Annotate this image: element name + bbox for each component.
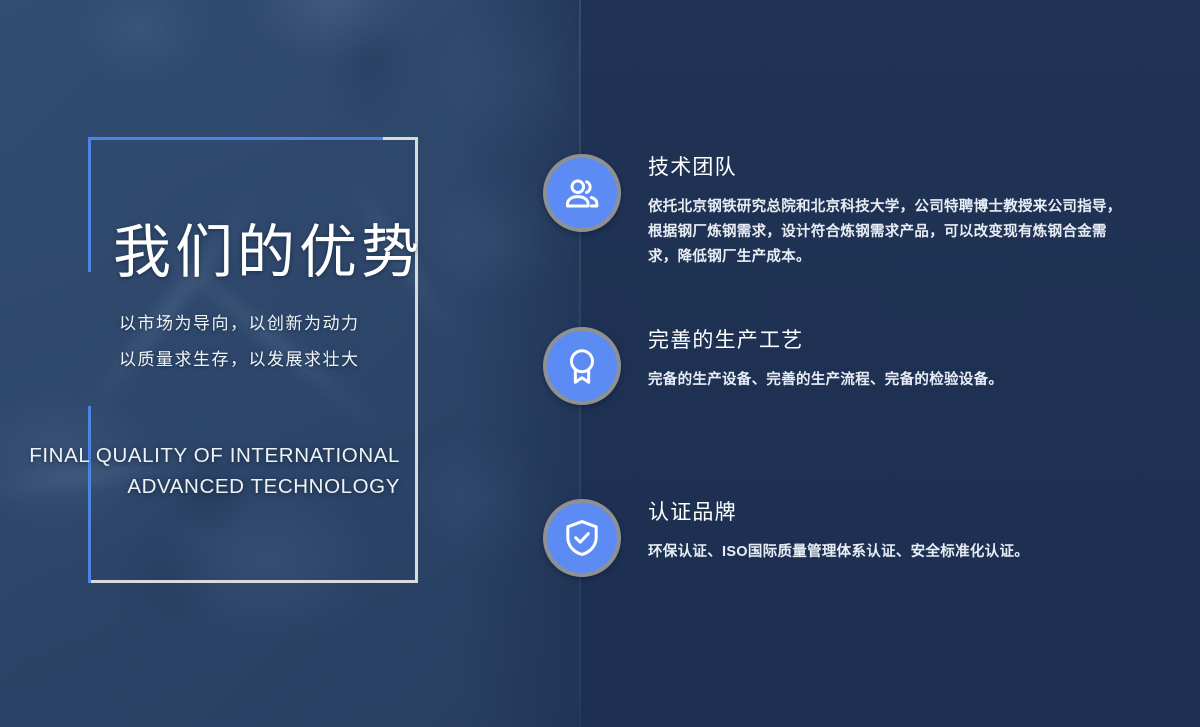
shield-check-icon — [543, 499, 621, 577]
feature-item-production-process[interactable]: 完善的生产工艺 完备的生产设备、完善的生产流程、完备的检验设备。 — [543, 327, 1163, 427]
feature-text-block: 完善的生产工艺 完备的生产设备、完善的生产流程、完备的检验设备。 — [648, 327, 1133, 393]
advantages-banner: 我们的优势 以市场为导向，以创新为动力 以质量求生存，以发展求壮大 FINAL … — [0, 0, 1200, 727]
page-title: 我们的优势 — [113, 224, 423, 282]
award-medal-icon — [543, 327, 621, 405]
feature-item-technical-team[interactable]: 技术团队 依托北京钢铁研究总院和北京科技大学，公司特聘博士教授来公司指导，根据钢… — [543, 154, 1163, 254]
english-caption-line-1: FINAL QUALITY OF INTERNATIONAL — [0, 440, 400, 471]
frame-left-accent-upper — [88, 137, 91, 272]
feature-item-certified-brand[interactable]: 认证品牌 环保认证、ISO国际质量管理体系认证、安全标准化认证。 — [543, 499, 1163, 599]
feature-description: 完备的生产设备、完善的生产流程、完备的检验设备。 — [648, 368, 1133, 393]
feature-text-block: 认证品牌 环保认证、ISO国际质量管理体系认证、安全标准化认证。 — [648, 499, 1133, 565]
feature-description: 依托北京钢铁研究总院和北京科技大学，公司特聘博士教授来公司指导，根据钢厂炼钢需求… — [648, 195, 1133, 270]
frame-top-light-line — [383, 137, 418, 140]
feature-text-block: 技术团队 依托北京钢铁研究总院和北京科技大学，公司特聘博士教授来公司指导，根据钢… — [648, 154, 1133, 270]
feature-description: 环保认证、ISO国际质量管理体系认证、安全标准化认证。 — [648, 540, 1133, 565]
frame-bottom-line — [88, 580, 418, 583]
feature-title: 完善的生产工艺 — [648, 327, 1133, 355]
subtitle-line-1: 以市场为导向，以创新为动力 — [119, 306, 360, 342]
feature-title: 认证品牌 — [648, 499, 1133, 527]
frame-right-line — [415, 137, 418, 583]
feature-title: 技术团队 — [648, 154, 1133, 182]
subtitle-line-2: 以质量求生存，以发展求壮大 — [119, 342, 360, 378]
english-caption-line-2: ADVANCED TECHNOLOGY — [0, 471, 400, 502]
frame-top-accent-line — [88, 137, 383, 140]
english-caption: FINAL QUALITY OF INTERNATIONAL ADVANCED … — [0, 440, 400, 502]
subtitle-block: 以市场为导向，以创新为动力 以质量求生存，以发展求壮大 — [119, 306, 360, 378]
team-people-icon — [543, 154, 621, 232]
